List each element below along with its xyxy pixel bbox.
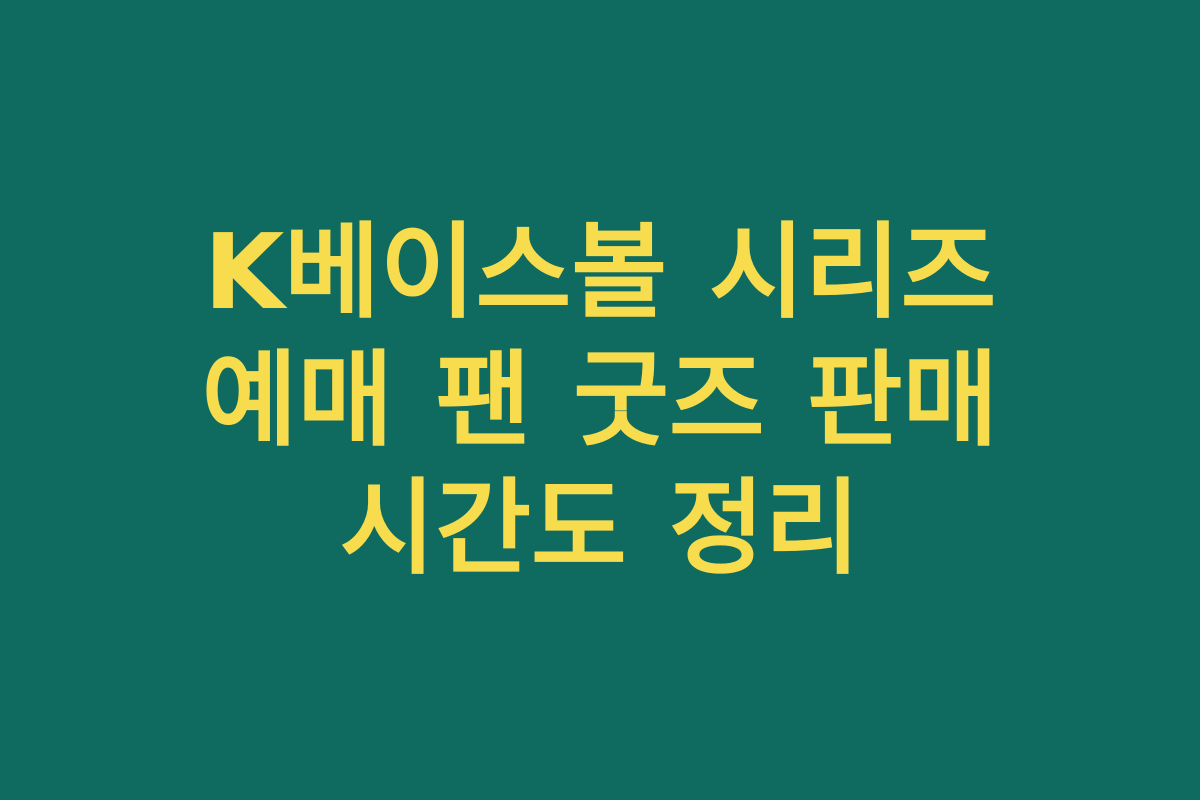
title-banner: K베이스볼 시리즈 예매 팬 굿즈 판매 시간도 정리 <box>0 0 1200 800</box>
page-title: K베이스볼 시리즈 예매 팬 굿즈 판매 시간도 정리 <box>95 208 1105 592</box>
title-block: K베이스볼 시리즈 예매 팬 굿즈 판매 시간도 정리 <box>95 208 1105 592</box>
